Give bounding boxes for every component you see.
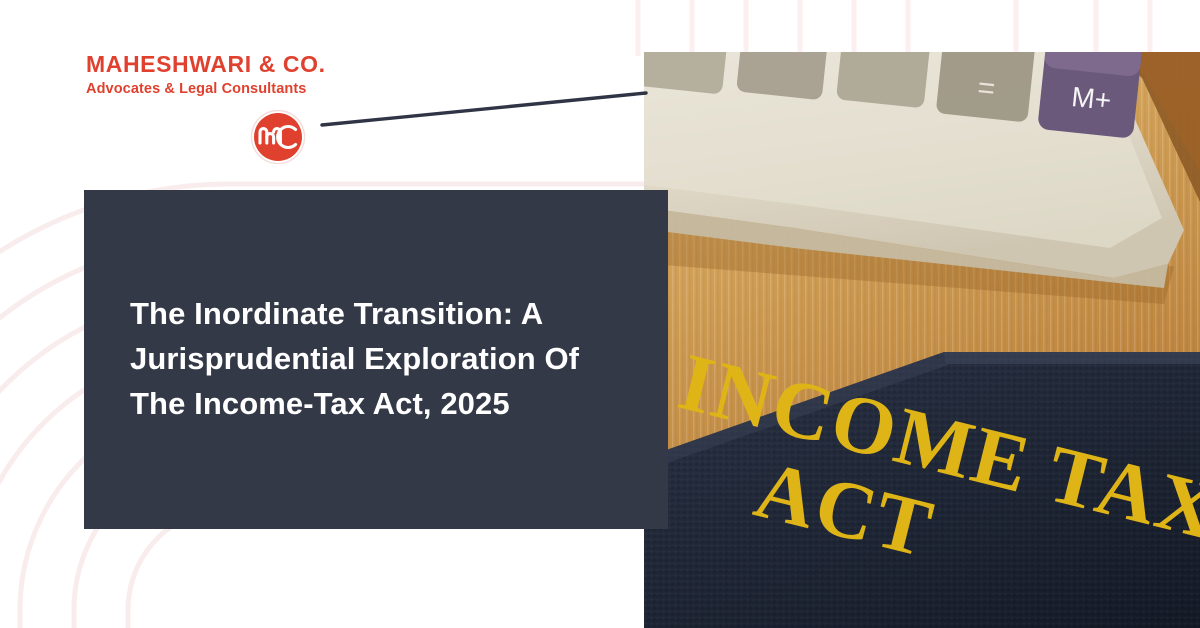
diagonal-connector-line <box>300 80 660 140</box>
brand-name: MAHESHWARI & CO. <box>86 52 326 77</box>
maheshwari-circle-monogram-icon <box>249 110 307 164</box>
decorative-vertical-lines <box>630 0 1200 56</box>
brand-logo[interactable]: MAHESHWARI & CO. Advocates & Legal Consu… <box>86 52 326 98</box>
article-banner: = M+ INCOME TAX ACT <box>0 0 1200 628</box>
brand-tagline: Advocates & Legal Consultants <box>86 80 326 98</box>
title-card: The Inordinate Transition: A Jurispruden… <box>84 190 668 529</box>
page-title: The Inordinate Transition: A Jurispruden… <box>84 292 668 427</box>
article-hero-photo: = M+ INCOME TAX ACT <box>644 52 1200 628</box>
